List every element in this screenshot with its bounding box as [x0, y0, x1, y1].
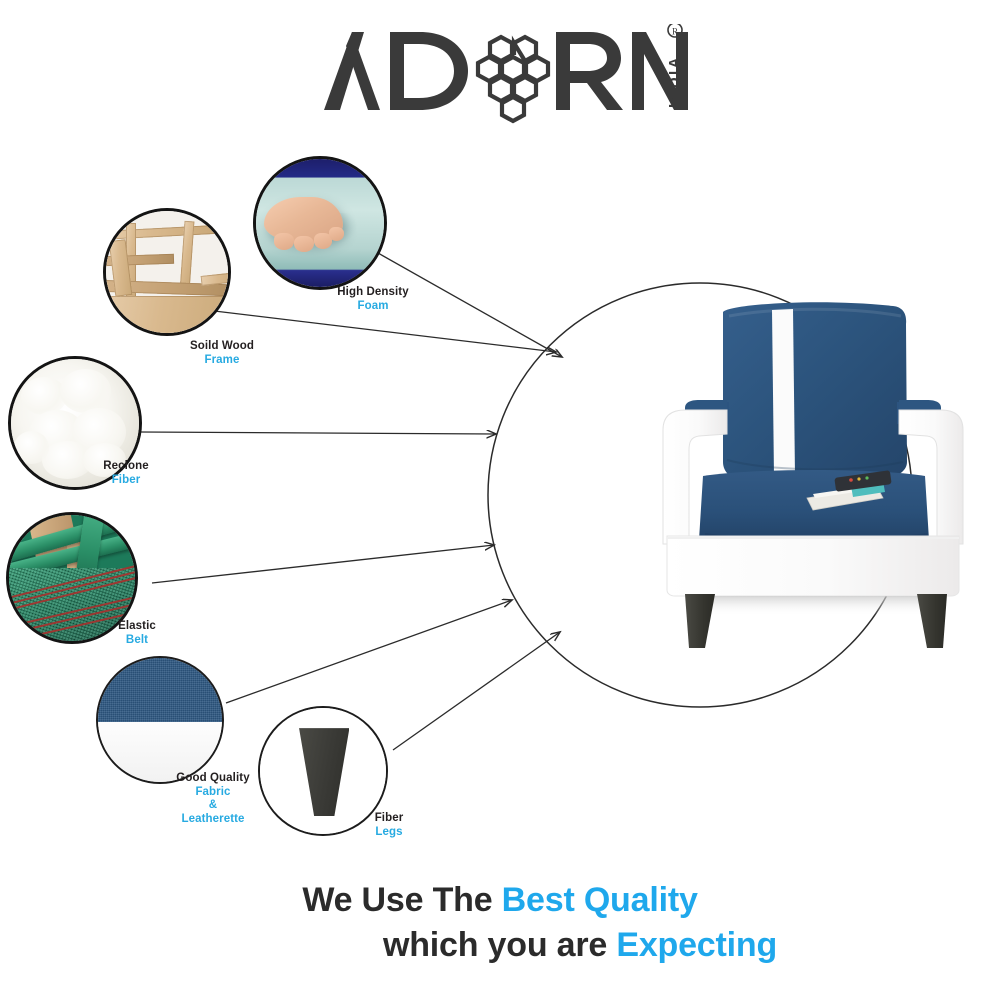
adorn-logo-svg: INDIA R: [318, 24, 688, 124]
svg-text:INDIA: INDIA: [666, 55, 683, 108]
foam-swatch-icon: [256, 159, 384, 287]
label-solid-wood-frame: Soild Wood Frame: [167, 340, 277, 367]
tagline-line-1-plain: We Use The: [302, 881, 501, 919]
arrow-reclone-fiber: [140, 432, 496, 434]
floor-shadow: [685, 596, 941, 616]
infographic-page: INDIA R: [0, 0, 1000, 1000]
label-line-1: Elastic: [92, 620, 182, 634]
label-line-1: High Density: [318, 286, 428, 300]
fabric-leatherette-swatch-icon: [98, 658, 222, 782]
label-line-1: Fiber: [352, 812, 426, 826]
arrow-good-quality-fabric: [226, 600, 512, 703]
tagline-line-2-plain: which you are: [383, 926, 616, 964]
label-line-1: Good Quality: [158, 772, 268, 786]
label-good-quality-fabric: Good Quality Fabric & Leatherette: [158, 772, 268, 826]
sofa-chair-svg: [645, 290, 990, 660]
callout-high-density-foam: [253, 156, 387, 290]
label-line-3: &: [158, 799, 268, 813]
label-line-2: Belt: [92, 634, 182, 648]
label-fiber-legs: Fiber Legs: [352, 812, 426, 839]
label-line-2: Foam: [318, 300, 428, 314]
label-line-2: Fabric: [158, 786, 268, 800]
label-high-density-foam: High Density Foam: [318, 286, 428, 313]
label-line-1: Reclone: [78, 460, 174, 474]
tagline-line-1-accent: Best Quality: [502, 881, 698, 919]
label-elastic-belt: Elastic Belt: [92, 620, 182, 647]
tagline: We Use The Best Quality which you are Ex…: [0, 878, 1000, 968]
callout-solid-wood-frame: [103, 208, 231, 336]
tagline-line-2-accent: Expecting: [616, 926, 777, 964]
callout-good-quality-fabric: [96, 656, 224, 784]
label-line-1: Soild Wood: [167, 340, 277, 354]
arrow-fiber-legs: [393, 632, 560, 750]
label-reclone-fiber: Reclone Fiber: [78, 460, 174, 487]
label-line-2: Frame: [167, 354, 277, 368]
tagline-line-2: which you are Expecting: [0, 923, 1000, 968]
registered-trademark-icon: R: [668, 24, 682, 37]
label-line-2: Legs: [352, 826, 426, 840]
label-line-4: Leatherette: [158, 813, 268, 827]
sofa-front-base: [667, 536, 959, 596]
sofa-back-cushion: [723, 302, 907, 480]
label-line-2: Fiber: [78, 474, 174, 488]
wood-frame-swatch-icon: [106, 211, 228, 333]
brand-logo: INDIA R: [318, 24, 688, 124]
arrow-elastic-belt: [152, 545, 494, 583]
product-sofa-image: [645, 290, 990, 660]
svg-text:R: R: [672, 27, 678, 37]
tagline-line-1: We Use The Best Quality: [0, 878, 1000, 923]
